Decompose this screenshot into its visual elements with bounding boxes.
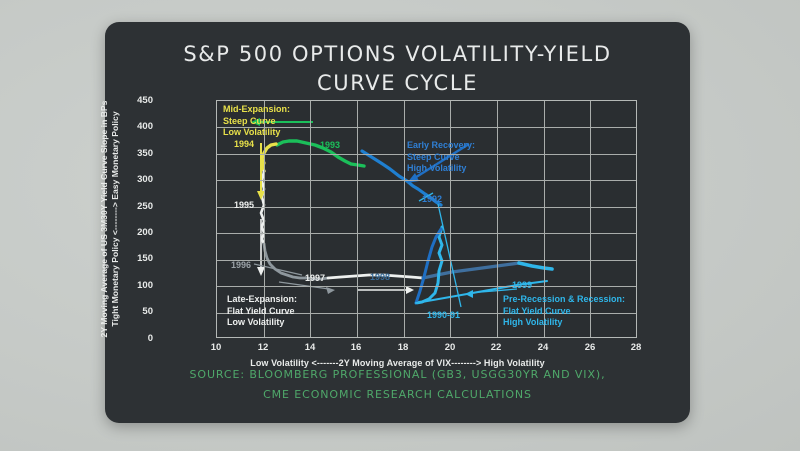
annotation-mid-line1: Mid-Expansion: [223, 104, 290, 116]
annotation-pre-line3: High Volatility [503, 317, 625, 329]
annotation-late-expansion: Late-Expansion: Flat Yield Curve Low Vol… [227, 294, 297, 329]
y-axis-title-line1: 2Y Moving Average of US 3M30Y Yield Curv… [99, 100, 110, 338]
y-tick-150: 150 [111, 253, 153, 264]
source-line1: SOURCE: BLOOMBERG PROFESSIONAL (GB3, USG… [105, 365, 690, 385]
screenshot-root: S&P 500 OPTIONS VOLATILITY-YIELD CURVE C… [0, 0, 800, 451]
y-axis-title: 2Y Moving Average of US 3M30Y Yield Curv… [99, 100, 121, 338]
annotation-late-line2: Flat Yield Curve [227, 306, 297, 318]
chart-title-line1: S&P 500 OPTIONS VOLATILITY-YIELD [105, 40, 690, 69]
annotation-mid-line3: Low Volatility [223, 127, 290, 139]
year-label-1998: 1998 [370, 272, 390, 282]
y-tick-200: 200 [111, 227, 153, 238]
x-tick-18: 18 [388, 342, 418, 353]
gridline-v [497, 101, 498, 337]
leader-1997-right-head [406, 286, 414, 294]
year-label-1992: 1992 [422, 194, 442, 204]
x-tick-22: 22 [481, 342, 511, 353]
leader-1999-head [465, 290, 473, 298]
annotation-pre-line1: Pre-Recession & Recession: [503, 294, 625, 306]
chart-title-line2: CURVE CYCLE [105, 69, 690, 98]
annotation-early-recovery: Early Recovery: Steep Curve High Volatil… [407, 140, 475, 175]
gridline-h [217, 233, 636, 234]
x-tick-10: 10 [201, 342, 231, 353]
x-tick-20: 20 [435, 342, 465, 353]
y-tick-100: 100 [111, 280, 153, 291]
year-label-1997: 1997 [305, 273, 325, 283]
x-tick-16: 16 [341, 342, 371, 353]
chart-title: S&P 500 OPTIONS VOLATILITY-YIELD CURVE C… [105, 40, 690, 98]
x-tick-14: 14 [295, 342, 325, 353]
y-tick-350: 350 [111, 148, 153, 159]
annotation-late-line1: Late-Expansion: [227, 294, 297, 306]
source-line2: CME ECONOMIC RESEARCH CALCULATIONS [105, 385, 690, 405]
gridline-v [450, 101, 451, 337]
year-label-1993: 1993 [320, 140, 340, 150]
leader-1997-head [326, 287, 335, 294]
y-tick-400: 400 [111, 121, 153, 132]
year-label-1994: 1994 [234, 139, 254, 149]
x-tick-24: 24 [528, 342, 558, 353]
gridline-v [310, 101, 311, 337]
x-tick-28: 28 [621, 342, 651, 353]
gridline-h [217, 207, 636, 208]
y-tick-250: 250 [111, 201, 153, 212]
leader-1992-head [407, 173, 419, 183]
gridline-h [217, 180, 636, 181]
annotation-early-line3: High Volatility [407, 163, 475, 175]
gridline-h [217, 286, 636, 287]
year-label-1996: 1996 [231, 260, 251, 270]
annotation-late-line3: Low Volatility [227, 317, 297, 329]
source-note: SOURCE: BLOOMBERG PROFESSIONAL (GB3, USG… [105, 365, 690, 405]
annotation-early-line2: Steep Curve [407, 152, 475, 164]
series-1992 [416, 229, 441, 303]
annotation-mid-line2: Steep Curve [223, 116, 290, 128]
y-tick-300: 300 [111, 174, 153, 185]
y-axis-title-line2: Tight Monetary Policy <--------> Easy Mo… [110, 100, 121, 338]
x-tick-12: 12 [248, 342, 278, 353]
year-label-1999: 1999 [512, 280, 532, 290]
annotation-pre-line2: Flat Yield Curve [503, 306, 625, 318]
chart-card: S&P 500 OPTIONS VOLATILITY-YIELD CURVE C… [105, 22, 690, 423]
annotation-early-line1: Early Recovery: [407, 140, 475, 152]
gridline-v [404, 101, 405, 337]
x-tick-26: 26 [575, 342, 605, 353]
y-tick-450: 450 [111, 95, 153, 106]
y-tick-50: 50 [111, 306, 153, 317]
annotation-pre-recession: Pre-Recession & Recession: Flat Yield Cu… [503, 294, 625, 329]
gridline-h [217, 260, 636, 261]
year-label-1990-91: 1990-91 [427, 310, 460, 320]
year-label-1995: 1995 [234, 200, 254, 210]
y-tick-0: 0 [111, 333, 153, 344]
series-1999 [519, 263, 552, 269]
annotation-mid-expansion: Mid-Expansion: Steep Curve Low Volatilit… [223, 104, 290, 139]
gridline-v [357, 101, 358, 337]
